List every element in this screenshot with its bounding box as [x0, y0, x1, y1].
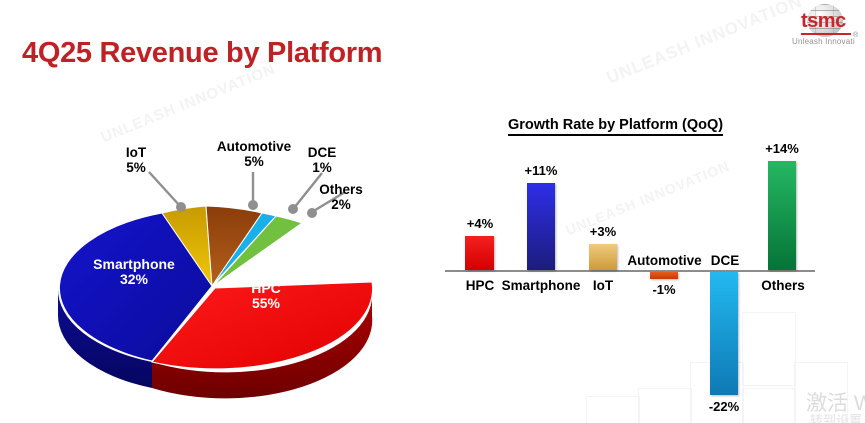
bar-value-hpc: +4%	[450, 216, 510, 231]
bar-others	[768, 161, 796, 270]
page-title: 4Q25 Revenue by Platform	[22, 37, 382, 70]
bar-category-iot: IoT	[575, 278, 631, 293]
bar-value-iot: +3%	[573, 224, 633, 239]
pie-callout-automotive-label: Automotive	[217, 139, 291, 154]
pie-callout-others-label: Others	[319, 182, 363, 197]
bar-chart-title: Growth Rate by Platform (QoQ)	[508, 117, 723, 136]
bar-value-others: +14%	[752, 141, 812, 156]
pie-label-smartphone-name: Smartphone	[93, 256, 175, 272]
pie-callout-automotive-value: 5%	[244, 154, 264, 169]
pie-label-hpc-name: HPC	[251, 280, 281, 296]
pie-callout-others-value: 2%	[331, 197, 351, 212]
bar-smartphone	[527, 183, 555, 270]
logo-underline	[801, 33, 851, 35]
pie-label-smartphone: Smartphone 32%	[78, 257, 190, 287]
pie-label-hpc: HPC 55%	[236, 281, 296, 311]
bar-value-automotive: -1%	[634, 282, 694, 297]
pie-label-smartphone-value: 32%	[120, 271, 148, 287]
bar-category-smartphone: Smartphone	[498, 278, 584, 293]
tsmc-wordmark: tsmc	[801, 11, 846, 31]
growth-rate-bar-chart: Growth Rate by Platform (QoQ) +4% HPC +1…	[440, 105, 865, 423]
bar-value-smartphone: +11%	[511, 163, 571, 178]
slide-canvas: UNLEASH INNOVATION UNLEASH INNOVATION UN…	[0, 0, 865, 423]
pie-callout-dce-label: DCE	[308, 145, 337, 160]
tsmc-logo: tsmc ® Unleash Innovati	[789, 3, 863, 47]
bar-chart-baseline	[445, 270, 815, 272]
bar-hpc	[465, 236, 494, 270]
bar-category-dce: DCE	[696, 253, 754, 268]
logo-tagline: Unleash Innovati	[792, 37, 855, 46]
bar-dce	[710, 272, 738, 395]
revenue-pie-chart: IoT 5% Automotive 5% DCE 1% Others 2% Sm…	[40, 140, 410, 410]
pie-callout-others: Others 2%	[297, 183, 385, 212]
background-watermark: UNLEASH INNOVATION	[604, 0, 805, 88]
bar-category-others: Others	[748, 278, 818, 293]
pie-callout-iot-label: IoT	[126, 145, 146, 160]
background-watermark: UNLEASH INNOVATION	[99, 61, 278, 147]
pie-callout-iot: IoT 5%	[110, 146, 162, 175]
pie-callout-dce-value: 1%	[312, 160, 332, 175]
bar-automotive	[650, 272, 678, 279]
pie-callout-dce: DCE 1%	[291, 146, 353, 175]
bar-value-dce: -22%	[694, 399, 754, 414]
pie-label-hpc-value: 55%	[252, 295, 280, 311]
pie-callout-iot-value: 5%	[126, 160, 146, 175]
